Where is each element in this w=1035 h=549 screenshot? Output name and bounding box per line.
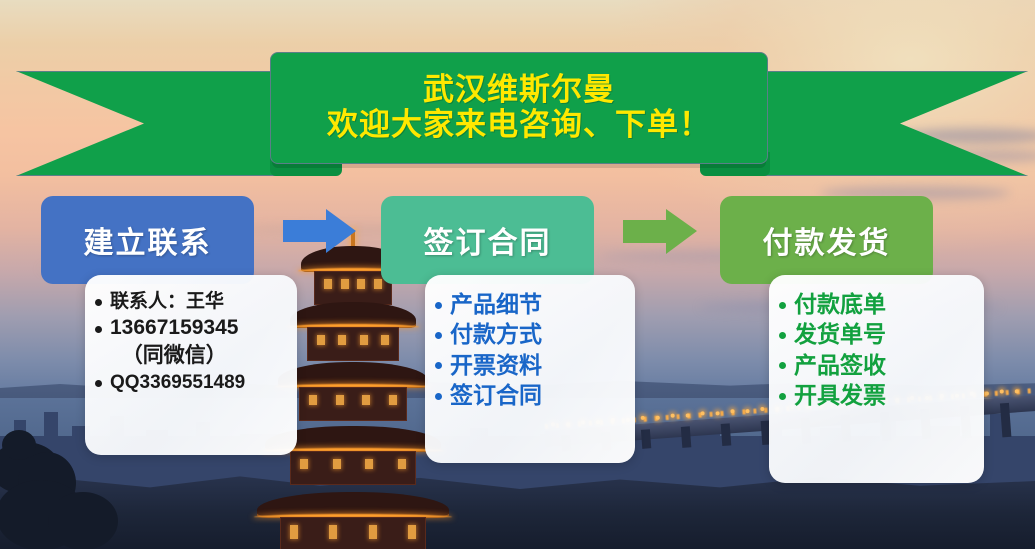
arrow-right-icon-1 bbox=[283, 209, 356, 253]
list-item: 联系人：王华 bbox=[95, 289, 287, 314]
bullet-dot-icon bbox=[779, 332, 786, 339]
pagoda-tier-body bbox=[280, 517, 426, 549]
pagoda-window bbox=[365, 459, 373, 469]
pagoda-window bbox=[333, 459, 341, 469]
bridge-lamp bbox=[671, 413, 675, 417]
pagoda-window bbox=[362, 395, 370, 405]
background-tree bbox=[48, 492, 118, 549]
bullet-list: 付款底单 发货单号 产品签收 开具发票 bbox=[779, 289, 974, 410]
bullet-dot-icon bbox=[779, 393, 786, 400]
card-header-establish-contact: 建立联系 bbox=[41, 196, 254, 284]
bullet-dot-icon bbox=[95, 326, 102, 333]
list-item-label: 产品签收 bbox=[794, 350, 886, 380]
pagoda-window bbox=[338, 335, 346, 345]
pagoda-window bbox=[341, 279, 349, 289]
list-item-label: 联系人：王华 bbox=[110, 289, 224, 314]
bullet-list: 产品细节 付款方式 开票资料 签订合同 bbox=[435, 289, 625, 410]
bridge-pier bbox=[681, 426, 691, 447]
card-title: 付款发货 bbox=[763, 218, 891, 262]
list-item-label: 产品细节 bbox=[450, 289, 542, 319]
card-header-sign-contract: 签订合同 bbox=[381, 196, 594, 284]
card-payment-shipping[interactable]: 付款发货 付款底单 发货单号 产品签收 开具发票 bbox=[720, 196, 985, 484]
bridge-lamp bbox=[1015, 389, 1019, 393]
pagoda-window bbox=[329, 525, 337, 539]
banner-subtitle: 欢迎大家来电咨询、下单！ bbox=[327, 108, 711, 143]
pagoda-window bbox=[369, 525, 377, 539]
bridge-pier bbox=[641, 429, 651, 449]
list-item: 发货单号 bbox=[779, 319, 974, 349]
card-body-sign-contract: 产品细节 付款方式 开票资料 签订合同 bbox=[425, 275, 635, 463]
bullet-dot-icon bbox=[95, 380, 102, 387]
list-item-main: 13667159345 bbox=[110, 316, 238, 339]
card-header-payment-shipping: 付款发货 bbox=[720, 196, 933, 284]
card-establish-contact[interactable]: 建立联系 联系人：王华 13667159345 （同微信） QQ3369551 bbox=[41, 196, 301, 458]
arrow-right-icon-2 bbox=[623, 209, 697, 254]
pagoda-window bbox=[336, 395, 344, 405]
list-item: 开具发票 bbox=[779, 380, 974, 410]
list-item: 开票资料 bbox=[435, 350, 625, 380]
card-title: 签订合同 bbox=[424, 218, 552, 262]
list-item: 付款底单 bbox=[779, 289, 974, 319]
pagoda-window bbox=[309, 395, 317, 405]
bridge-lamp bbox=[1000, 389, 1004, 393]
pagoda-window bbox=[360, 335, 368, 345]
list-item-label: 签订合同 bbox=[450, 380, 542, 410]
list-item-label: 开具发票 bbox=[794, 380, 886, 410]
bridge-lamp bbox=[985, 391, 989, 395]
bridge-pier bbox=[1000, 403, 1011, 437]
list-item: 付款方式 bbox=[435, 319, 625, 349]
bullet-dot-icon bbox=[435, 302, 442, 309]
bridge-lamp bbox=[700, 411, 704, 415]
poster-canvas: 武汉维斯尔曼 欢迎大家来电咨询、下单！ 建立联系 联系人：王华 13667159… bbox=[0, 0, 1035, 549]
list-item-label: 开票资料 bbox=[450, 350, 542, 380]
card-body-establish-contact: 联系人：王华 13667159345 （同微信） QQ3369551489 bbox=[85, 275, 297, 455]
list-item-label: 付款底单 bbox=[794, 289, 886, 319]
banner-panel: 武汉维斯尔曼 欢迎大家来电咨询、下单！ bbox=[270, 52, 768, 164]
list-item: 产品签收 bbox=[779, 350, 974, 380]
bridge-lamp bbox=[656, 416, 660, 420]
bridge-lamp bbox=[641, 416, 645, 420]
bullet-dot-icon bbox=[435, 393, 442, 400]
pagoda-window bbox=[317, 335, 325, 345]
bullet-dot-icon bbox=[435, 362, 442, 369]
card-body-payment-shipping: 付款底单 发货单号 产品签收 开具发票 bbox=[769, 275, 984, 483]
list-item-label: 付款方式 bbox=[450, 319, 542, 349]
list-item-sub: （同微信） bbox=[110, 342, 238, 370]
bullet-dot-icon bbox=[95, 299, 102, 306]
pagoda-window bbox=[408, 525, 416, 539]
pagoda-window bbox=[357, 279, 365, 289]
card-sign-contract[interactable]: 签订合同 产品细节 付款方式 开票资料 签订合同 bbox=[381, 196, 641, 464]
bridge-lamp bbox=[686, 413, 690, 417]
bullet-list: 联系人：王华 13667159345 （同微信） QQ3369551489 bbox=[95, 289, 287, 395]
bullet-dot-icon bbox=[779, 362, 786, 369]
banner-title: 武汉维斯尔曼 bbox=[423, 73, 615, 108]
list-item-label: 发货单号 bbox=[794, 319, 886, 349]
list-item: 产品细节 bbox=[435, 289, 625, 319]
list-item: QQ3369551489 bbox=[95, 370, 287, 395]
list-item: 签订合同 bbox=[435, 380, 625, 410]
pagoda-window bbox=[290, 525, 298, 539]
bullet-dot-icon bbox=[435, 332, 442, 339]
card-title: 建立联系 bbox=[84, 218, 212, 262]
background-tree bbox=[2, 430, 36, 460]
bullet-dot-icon bbox=[779, 302, 786, 309]
pagoda-window bbox=[324, 279, 332, 289]
list-item-label: QQ3369551489 bbox=[110, 370, 245, 395]
banner-ribbon: 武汉维斯尔曼 欢迎大家来电咨询、下单！ bbox=[0, 0, 1035, 195]
list-item: 13667159345 （同微信） bbox=[95, 314, 287, 369]
list-item-label: 13667159345 （同微信） bbox=[110, 314, 238, 369]
pagoda-window bbox=[300, 459, 308, 469]
